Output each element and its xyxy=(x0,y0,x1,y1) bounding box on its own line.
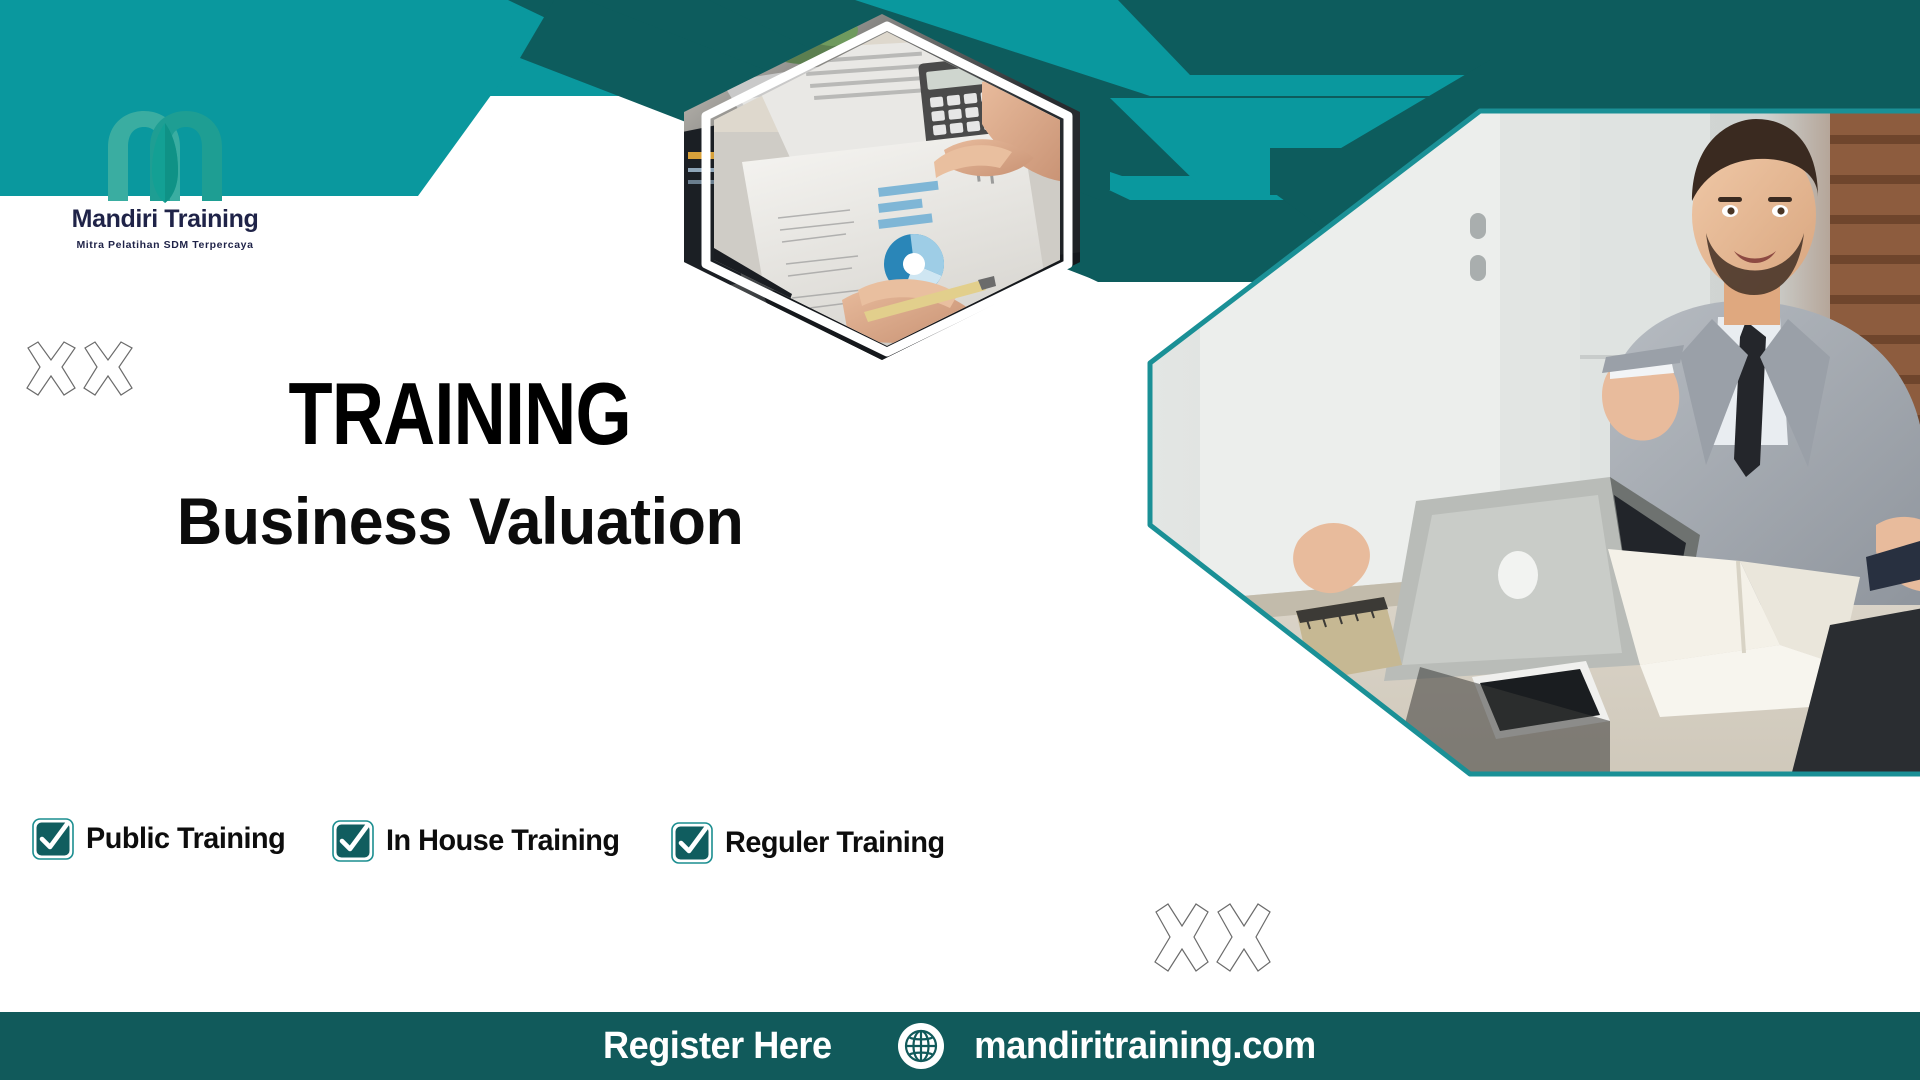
globe-icon xyxy=(897,1022,945,1070)
training-option-label: Public Training xyxy=(86,822,285,856)
training-option-inhouse[interactable]: In House Training xyxy=(332,820,629,862)
checkbox-checked-icon[interactable] xyxy=(332,820,374,862)
checkbox-checked-icon[interactable] xyxy=(671,822,713,864)
training-option-label: In House Training xyxy=(386,824,619,858)
brand-name: Mandiri Training xyxy=(40,207,290,232)
website-url: mandiritraining.com xyxy=(975,1025,1317,1068)
mandiri-m-monogram-icon xyxy=(90,105,240,205)
hexagon-photo-frame xyxy=(682,12,1082,362)
training-option-reguler[interactable]: Reguler Training xyxy=(671,822,954,864)
training-flyer: Mandiri Training Mitra Pelatihan SDM Ter… xyxy=(0,0,1920,1080)
brand-logo: Mandiri Training Mitra Pelatihan SDM Ter… xyxy=(40,105,290,251)
training-option-label: Reguler Training xyxy=(725,826,945,860)
training-option-public[interactable]: Public Training xyxy=(32,818,294,860)
headline-kicker: TRAINING xyxy=(289,370,631,458)
training-options-list: Public Training In House Training Re xyxy=(32,818,953,860)
cross-marks-bottom-center xyxy=(1150,898,1280,978)
register-here-label[interactable]: Register Here xyxy=(603,1025,832,1068)
headline-subject: Business Valuation xyxy=(177,488,743,554)
businessman-photo-frame xyxy=(1140,105,1920,780)
checkbox-checked-icon[interactable] xyxy=(32,818,74,860)
headline-block: TRAINING Business Valuation xyxy=(0,370,920,554)
website-link[interactable]: mandiritraining.com xyxy=(897,1022,1323,1070)
brand-tagline: Mitra Pelatihan SDM Terpercaya xyxy=(40,239,290,251)
footer-bar: Register Here mandiritraining.com xyxy=(0,1012,1920,1080)
